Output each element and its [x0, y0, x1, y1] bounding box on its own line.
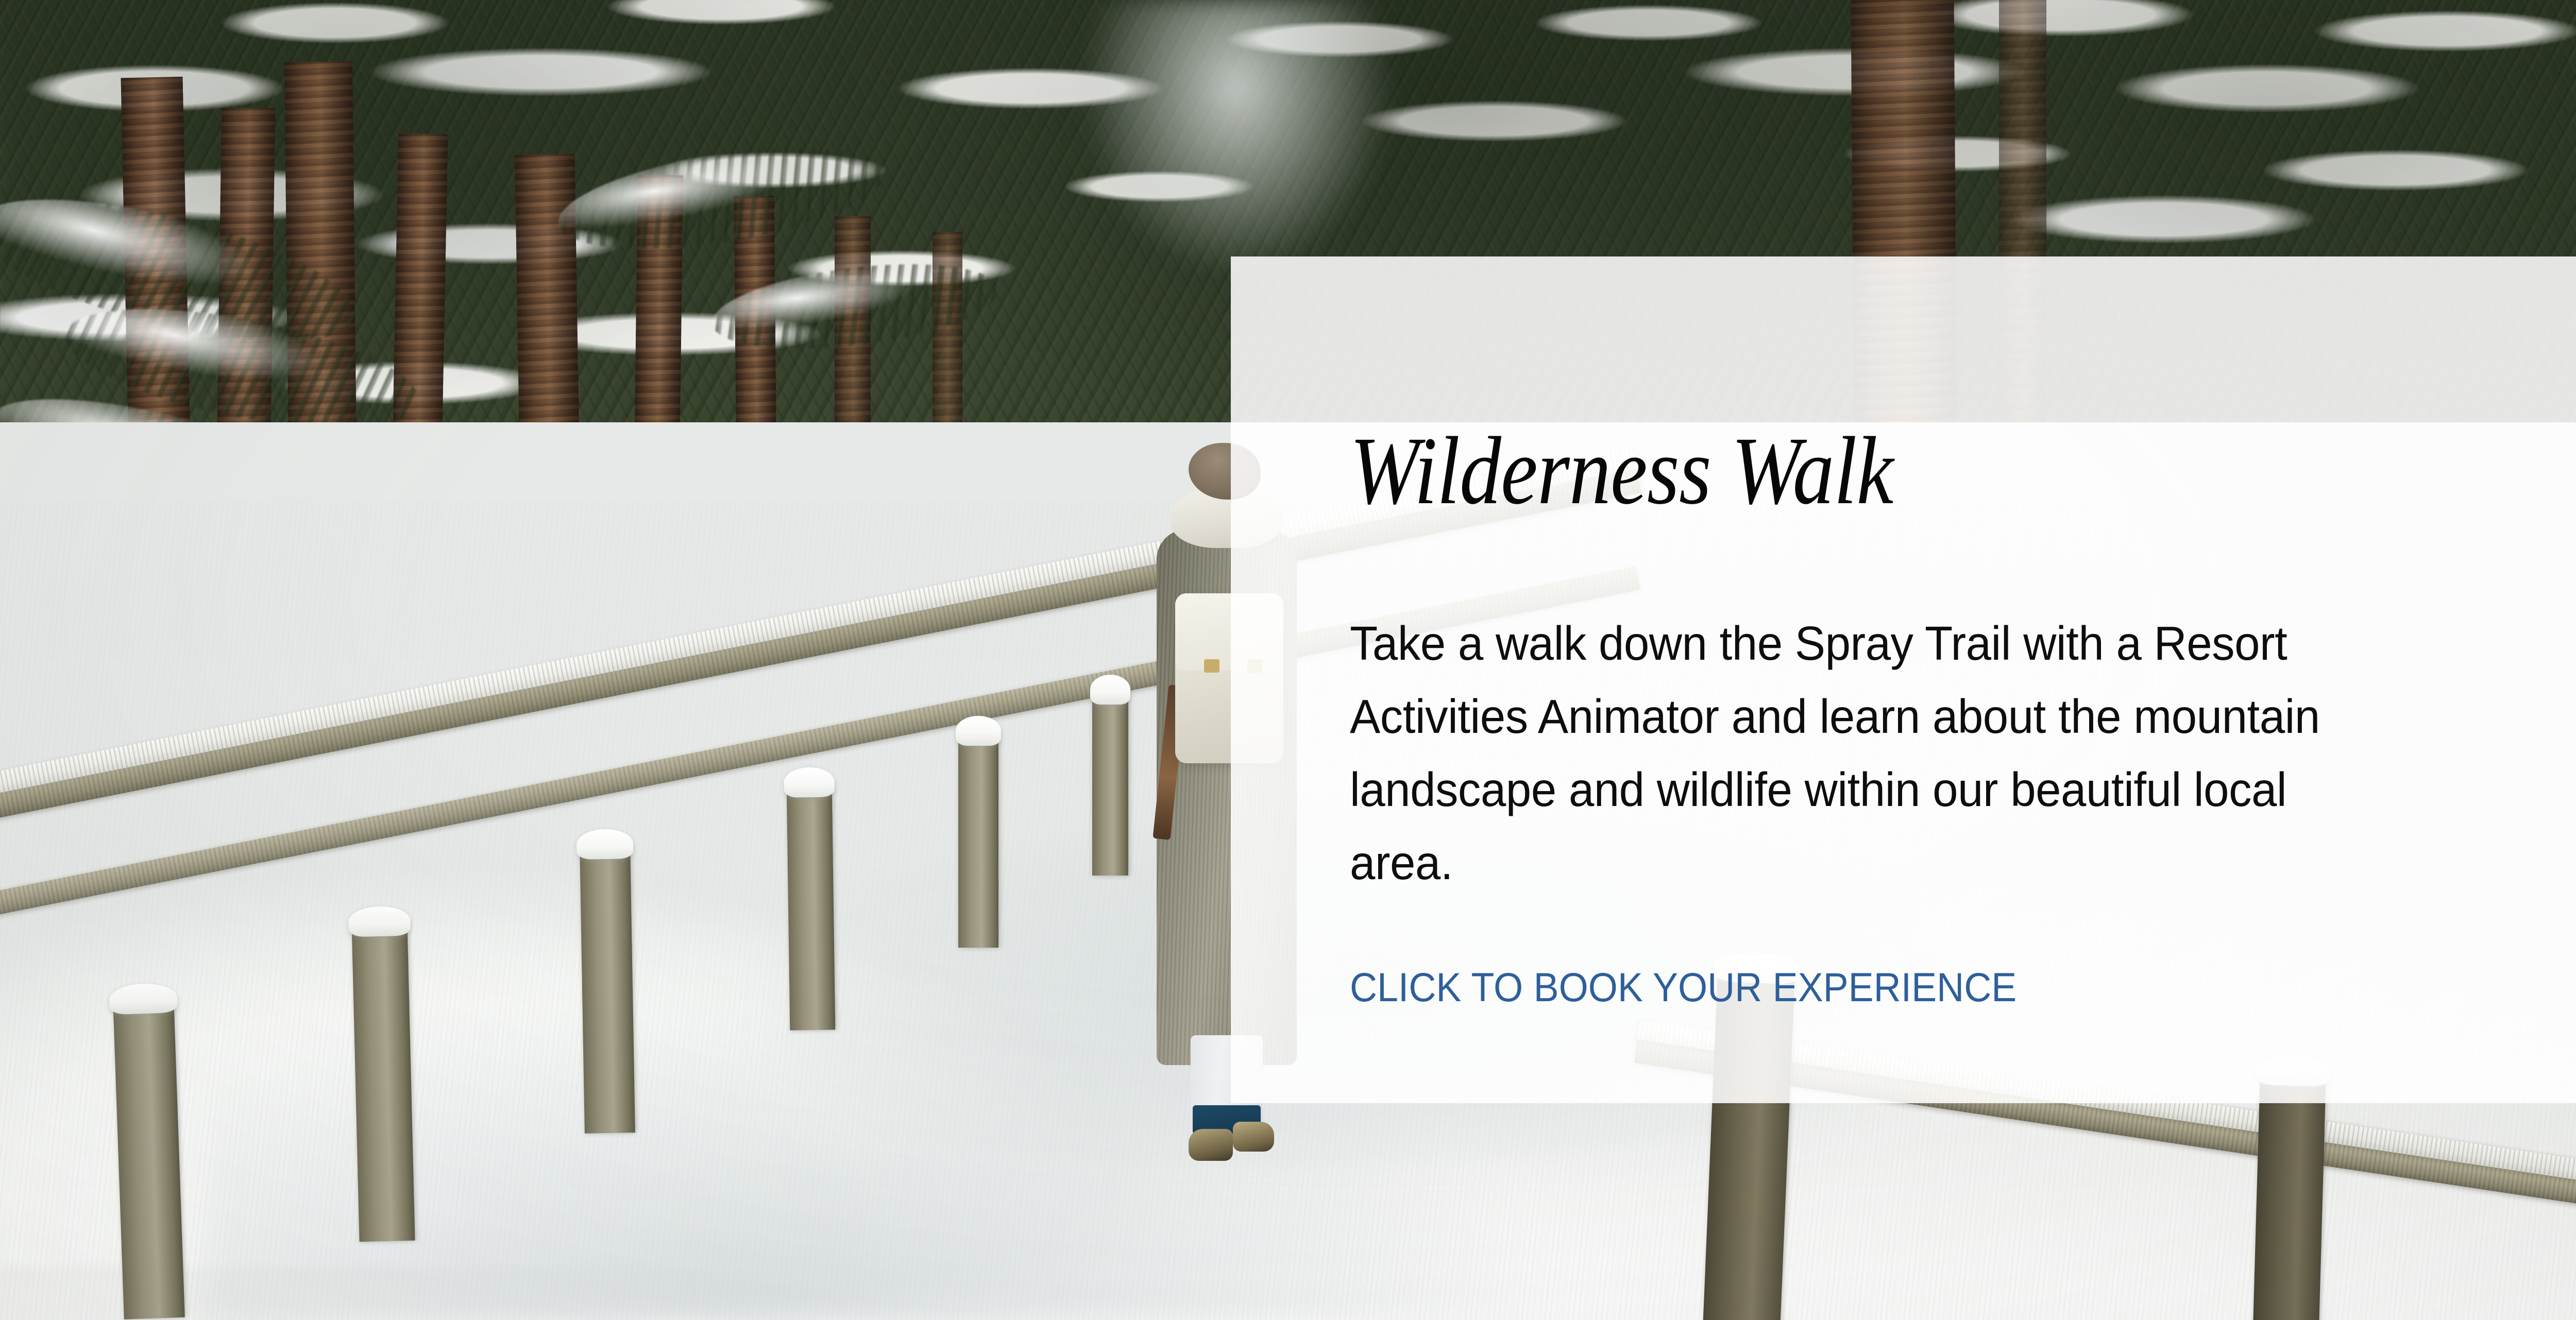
hero-banner: Wilderness Walk Take a walk down the Spr… — [0, 0, 2576, 1320]
card-title: Wilderness Walk — [1350, 422, 2294, 519]
experience-card: Wilderness Walk Take a walk down the Spr… — [1231, 256, 2576, 1103]
card-description: Take a walk down the Spray Trail with a … — [1350, 607, 2398, 899]
book-experience-link[interactable]: CLICK TO BOOK YOUR EXPERIENCE — [1350, 965, 2016, 1009]
